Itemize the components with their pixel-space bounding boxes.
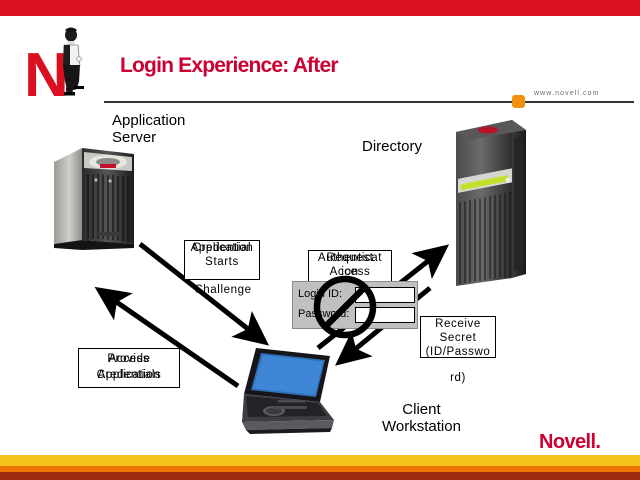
- callout-application-starts: Application Application Credential Start…: [184, 240, 260, 280]
- label-client-line1: Client: [382, 401, 461, 418]
- callout1-credential: Credential: [185, 241, 259, 255]
- label-client-workstation: Client Workstation: [382, 401, 461, 435]
- label-application-server: Application Server: [112, 112, 185, 146]
- callout-provide-credentials: Provide Provide Access Application Crede…: [78, 348, 180, 388]
- label-client-line2: Workstation: [382, 418, 461, 435]
- url-bullet-icon: [512, 95, 525, 108]
- callout-receive-secret: Receive Secret (ID/Passwo: [420, 316, 496, 358]
- title-divider: [104, 101, 634, 103]
- client-laptop-image: [222, 344, 342, 436]
- callout2-request: Request: [309, 251, 391, 265]
- callout3-access: Access: [79, 352, 179, 366]
- website-url: www.novell.com: [534, 90, 600, 97]
- slide-canvas: N Login Experience: After www.novell.com: [0, 0, 640, 480]
- footer-stripe-dark: [0, 472, 640, 480]
- callout3-application: Application: [79, 368, 179, 382]
- top-brand-bar: [0, 0, 640, 16]
- callout1-challenge-overflow: Challenge: [178, 284, 268, 296]
- no-entry-icon: [312, 274, 378, 340]
- callout4-line1: Receive: [421, 317, 495, 331]
- application-server-image: [48, 140, 144, 250]
- leaning-person-illustration: [52, 26, 88, 96]
- label-application-server-line2: Server: [112, 129, 185, 146]
- callout4-overflow: rd): [410, 372, 506, 384]
- directory-server-image: [452, 118, 530, 290]
- callout4-line3: (ID/Passwo: [421, 345, 495, 359]
- label-application-server-line1: Application: [112, 112, 185, 129]
- novell-wordmark: Novell.: [539, 431, 600, 454]
- callout4-line2: Secret: [421, 331, 495, 345]
- callout1-starts: Starts: [185, 255, 259, 269]
- footer-stripe-yellow: [0, 455, 640, 466]
- page-title: Login Experience: After: [120, 54, 338, 78]
- label-directory: Directory: [362, 138, 422, 155]
